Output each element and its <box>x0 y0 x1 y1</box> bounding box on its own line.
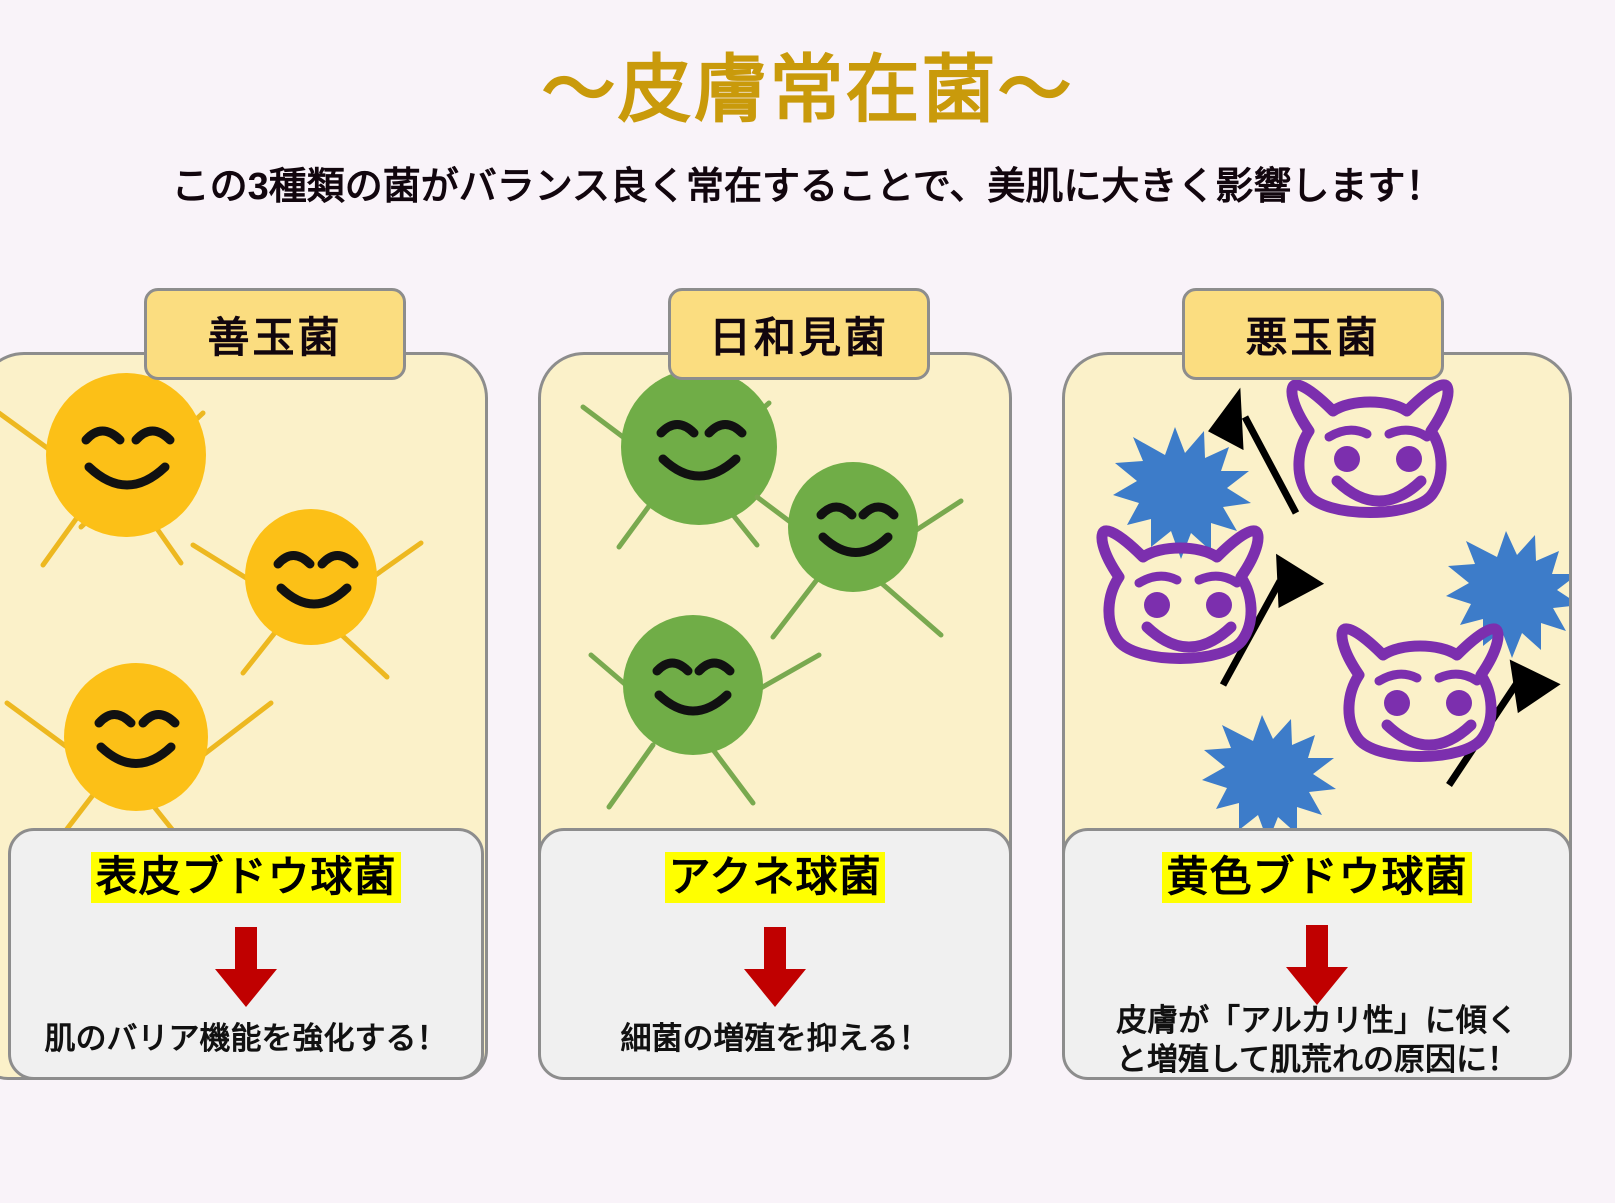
tab-bad-bacteria[interactable]: 悪玉菌 <box>1182 288 1444 380</box>
page-subtitle: この3種類の菌がバランス良く常在することで、美肌に大きく影響します！ <box>0 155 1615 210</box>
panel-good-bacteria: 表皮ブドウ球菌 肌のバリア機能を強化する！ <box>8 828 484 1080</box>
tab-label: 日和見菌 <box>709 304 889 365</box>
burst-icon <box>1202 715 1336 842</box>
bacteria-body <box>623 615 763 755</box>
bacteria-body <box>621 369 777 525</box>
infographic-canvas: 〜皮膚常在菌〜 この3種類の菌がバランス良く常在することで、美肌に大きく影響しま… <box>0 0 1615 1203</box>
page-title: 〜皮膚常在菌〜 <box>0 30 1615 137</box>
down-arrow-icon <box>1282 925 1352 1007</box>
motion-arrow-line <box>1245 417 1296 513</box>
bacteria-body <box>245 509 377 645</box>
down-arrow-icon <box>740 927 810 1009</box>
tab-good-bacteria[interactable]: 善玉菌 <box>144 288 406 380</box>
organism-name-highlight: アクネ球菌 <box>541 853 1009 900</box>
bacteria-body <box>788 462 918 592</box>
organism-name-highlight: 表皮ブドウ球菌 <box>11 853 481 900</box>
down-arrow-icon <box>211 927 281 1009</box>
panel-description: 肌のバリア機能を強化する！ <box>11 1019 481 1058</box>
burst-icon <box>1446 531 1569 658</box>
organism-name-highlight: 黄色ブドウ球菌 <box>1065 853 1569 900</box>
panel-bad-bacteria: 黄色ブドウ球菌 皮膚が「アルカリ性」に傾く と増殖して肌荒れの原因に！ <box>1062 828 1572 1080</box>
panel-opportunistic-bacteria: アクネ球菌 細菌の増殖を抑える！ <box>538 828 1012 1080</box>
tab-label: 悪玉菌 <box>1245 304 1380 365</box>
bacteria-body <box>64 663 208 811</box>
bacteria-body <box>46 373 206 537</box>
panel-description: 皮膚が「アルカリ性」に傾く と増殖して肌荒れの原因に！ <box>1065 1001 1569 1079</box>
devil-face <box>1292 385 1448 513</box>
tab-opportunistic-bacteria[interactable]: 日和見菌 <box>668 288 930 380</box>
tab-label: 善玉菌 <box>207 304 342 365</box>
panel-description: 細菌の増殖を抑える！ <box>541 1019 1009 1058</box>
devil-face <box>1342 629 1498 757</box>
devil-face <box>1102 531 1258 659</box>
